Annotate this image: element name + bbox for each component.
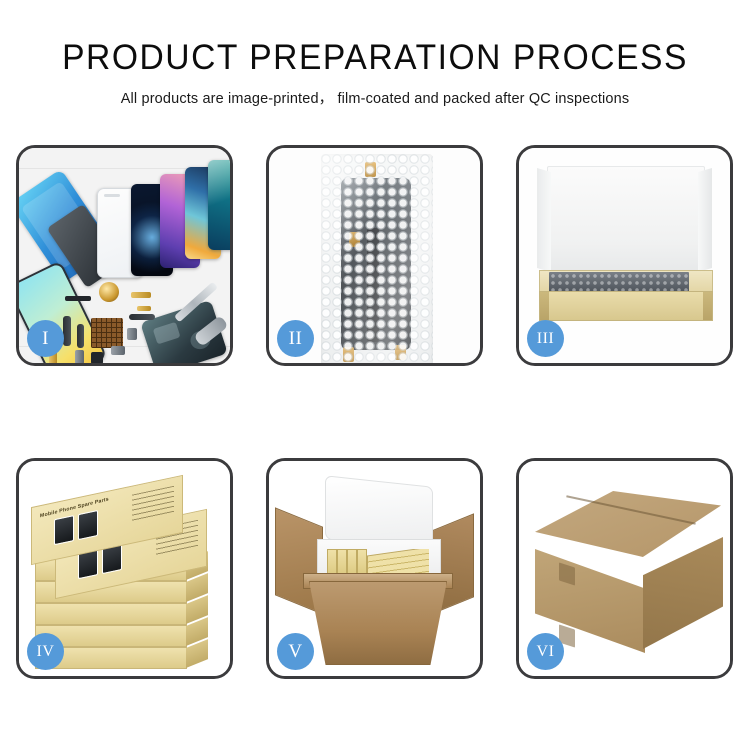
flex-cable-left bbox=[63, 316, 71, 346]
bubble-wrap-bag bbox=[321, 154, 433, 363]
step-card-5[interactable]: V bbox=[266, 458, 483, 679]
step-badge-1: I bbox=[27, 320, 64, 357]
step-badge-2: II bbox=[277, 320, 314, 357]
small-part-camera bbox=[91, 352, 103, 363]
step-badge-6: VI bbox=[527, 633, 564, 670]
lid-left-flap bbox=[537, 168, 551, 272]
step-card-2[interactable]: II bbox=[266, 145, 483, 366]
small-part-sim-tray bbox=[75, 350, 84, 363]
page-subtitle: All products are image-printed， film-coa… bbox=[0, 87, 750, 108]
box-label-back: Mobile Phone Spare Parts bbox=[40, 496, 109, 519]
teal-wave-screen bbox=[208, 160, 230, 250]
small-part-speaker bbox=[111, 346, 125, 355]
step-card-4[interactable]: Mobile Phone Spare Parts Mobile Phone Sp… bbox=[16, 458, 233, 679]
page-header: PRODUCT PREPARATION PROCESS All products… bbox=[0, 0, 750, 108]
box-spec-lines-back bbox=[132, 486, 174, 523]
step-badge-5: V bbox=[277, 633, 314, 670]
carton-body bbox=[309, 581, 447, 665]
white-box-lid bbox=[547, 166, 705, 278]
box-thumb-back-1 bbox=[54, 515, 74, 545]
small-part-connector bbox=[127, 328, 137, 340]
step-badge-4: IV bbox=[27, 633, 64, 670]
flex-cable-right bbox=[129, 314, 155, 320]
step-badge-3: III bbox=[527, 320, 564, 357]
step-card-6[interactable]: VI bbox=[516, 458, 733, 679]
flex-cable-mid bbox=[77, 324, 84, 348]
lid-right-flap bbox=[698, 168, 712, 272]
process-steps-grid: I II III bbox=[16, 145, 734, 679]
bubble-packing-fill bbox=[549, 272, 689, 292]
gold-coil-part bbox=[99, 282, 119, 302]
box-thumb-back-2 bbox=[78, 510, 98, 540]
step-card-1[interactable]: I bbox=[16, 145, 233, 366]
plastic-sheen bbox=[321, 154, 433, 363]
stack-box-4 bbox=[35, 603, 187, 625]
chip-grid-part bbox=[91, 318, 123, 348]
small-part-strip bbox=[65, 296, 91, 301]
step-card-3[interactable]: III bbox=[516, 145, 733, 366]
page-title: PRODUCT PREPARATION PROCESS bbox=[15, 38, 735, 78]
kraft-tray-front bbox=[539, 291, 713, 321]
carton-side-face bbox=[643, 537, 723, 649]
small-part-gold-flex bbox=[131, 292, 151, 298]
small-part-gold-clip bbox=[137, 306, 151, 311]
